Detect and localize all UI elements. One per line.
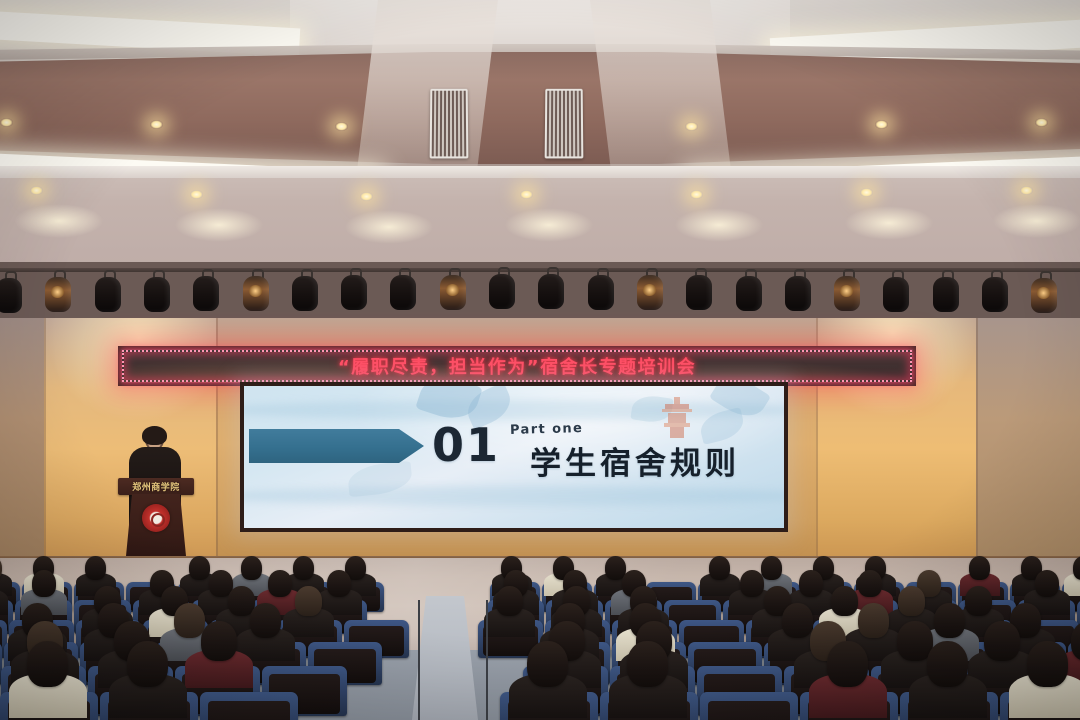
audience-member-head xyxy=(898,586,925,616)
audience-member-head xyxy=(858,570,882,597)
audience-member-head xyxy=(327,570,351,597)
audience-member-head xyxy=(32,570,56,597)
lower-ceiling-edge xyxy=(0,166,1080,178)
slide-eyebrow: Part one xyxy=(510,421,584,438)
presenter-hair xyxy=(142,426,167,445)
aisle-rail xyxy=(418,600,420,720)
stage-par-light xyxy=(489,267,515,309)
stage-light-truss xyxy=(0,258,1080,320)
light-glow xyxy=(504,208,594,242)
audience-member-head xyxy=(831,586,858,616)
aisle-rail xyxy=(486,600,488,720)
projection-screen: 01 Part one 学生宿舍规则 xyxy=(244,386,784,528)
audience-member-head xyxy=(858,603,889,638)
light-glow xyxy=(992,204,1080,238)
auditorium-seat xyxy=(700,692,798,720)
light-glow xyxy=(14,204,104,238)
audience-member-head xyxy=(127,641,168,687)
stage-par-light xyxy=(686,268,712,310)
audience-member-head xyxy=(799,570,823,597)
audience-member-head xyxy=(927,641,968,687)
podium-institution-label: 郑州商学院 xyxy=(118,479,194,494)
audience-member-head xyxy=(709,556,730,580)
downlight-icon xyxy=(690,190,703,199)
wall-panel xyxy=(0,318,44,570)
stage-par-light xyxy=(243,269,269,311)
slide-cloud-motif xyxy=(244,486,784,506)
audience-member-head xyxy=(241,556,262,580)
stage-par-light xyxy=(736,269,762,311)
downlight-icon xyxy=(0,118,13,127)
audience-member-head xyxy=(174,603,205,638)
slide-cloud-motif xyxy=(244,400,784,420)
downlight-icon xyxy=(30,186,43,195)
stage-par-light xyxy=(982,270,1008,312)
wall-panel xyxy=(976,318,1080,570)
stage-par-light xyxy=(785,269,811,311)
audience-member-head xyxy=(740,570,764,597)
stage-par-light xyxy=(0,271,22,313)
light-glow xyxy=(174,208,264,242)
audience-member-head xyxy=(527,641,568,687)
slide-section-number: 01 xyxy=(432,418,500,472)
light-glow xyxy=(674,208,764,242)
audience-member-head xyxy=(1073,556,1080,580)
audience-member-head xyxy=(761,556,782,580)
audience-member-head xyxy=(27,641,68,687)
stage-par-light xyxy=(883,270,909,312)
ceiling-beam xyxy=(0,52,1080,164)
wall-seam xyxy=(976,318,978,570)
stage-par-light xyxy=(440,268,466,310)
audience-member-head xyxy=(934,603,965,638)
audience-member-head xyxy=(295,586,322,616)
ceiling-angled-panel xyxy=(590,0,731,166)
stage-par-light xyxy=(193,269,219,311)
podium: 郑州商学院 xyxy=(118,478,194,556)
wall-seam xyxy=(44,318,46,570)
audience-member-head xyxy=(965,586,992,616)
institution-crest-icon xyxy=(142,504,170,532)
downlight-icon xyxy=(685,122,698,131)
light-glow xyxy=(844,206,934,240)
ceiling xyxy=(0,0,1080,262)
downlight-icon xyxy=(1020,186,1033,195)
audience-member-head xyxy=(293,556,314,580)
audience-member-head xyxy=(969,556,990,580)
led-banner: “履职尽责，担当作为”宿舍长专题培训会 xyxy=(118,346,916,386)
air-vent-icon xyxy=(430,89,469,159)
banner-title: “履职尽责，担当作为”宿舍长专题培训会 xyxy=(121,349,913,383)
audience-member-head xyxy=(85,556,106,580)
audience-member-head xyxy=(250,603,281,638)
downlight-icon xyxy=(335,122,348,131)
slide-title: 学生宿舍规则 xyxy=(530,438,740,483)
audience-member-head xyxy=(268,570,292,597)
downlight-icon xyxy=(150,120,163,129)
stage-par-light xyxy=(538,267,564,309)
audience-member-head xyxy=(627,641,668,687)
downlight-icon xyxy=(860,188,873,197)
stage-par-light xyxy=(45,270,71,312)
downlight-icon xyxy=(520,190,533,199)
audience-member-head xyxy=(1027,641,1068,687)
downlight-icon xyxy=(875,120,888,129)
light-glow xyxy=(344,210,434,244)
stage-par-light xyxy=(637,268,663,310)
auditorium-seat xyxy=(200,692,298,720)
air-vent-icon xyxy=(545,89,584,159)
stage-par-light xyxy=(588,268,614,310)
audience-member-head xyxy=(201,621,237,661)
audience-member-head xyxy=(984,621,1020,661)
audience-member-head xyxy=(496,586,523,616)
stage-par-light xyxy=(834,269,860,311)
downlight-icon xyxy=(360,192,373,201)
stage-par-light xyxy=(144,270,170,312)
slide-arrow-icon xyxy=(249,429,424,463)
stage-par-light xyxy=(933,270,959,312)
stage-par-light xyxy=(341,268,367,310)
projection-screen-frame: 01 Part one 学生宿舍规则 xyxy=(240,382,788,532)
stage-par-light xyxy=(1031,271,1057,313)
stage-par-light xyxy=(95,270,121,312)
downlight-icon xyxy=(190,190,203,199)
audience-member-head xyxy=(189,556,210,580)
audience-member-head xyxy=(1035,570,1059,597)
pagoda-icon xyxy=(659,394,695,440)
stage-par-light xyxy=(390,268,416,310)
audience-member-head xyxy=(827,641,868,687)
ceiling-angled-panel xyxy=(358,0,499,166)
auditorium-scene: “履职尽责，担当作为”宿舍长专题培训会 01 Part one xyxy=(0,0,1080,720)
stage-par-light xyxy=(292,269,318,311)
downlight-icon xyxy=(1035,118,1048,127)
audience-member-head xyxy=(782,603,813,638)
